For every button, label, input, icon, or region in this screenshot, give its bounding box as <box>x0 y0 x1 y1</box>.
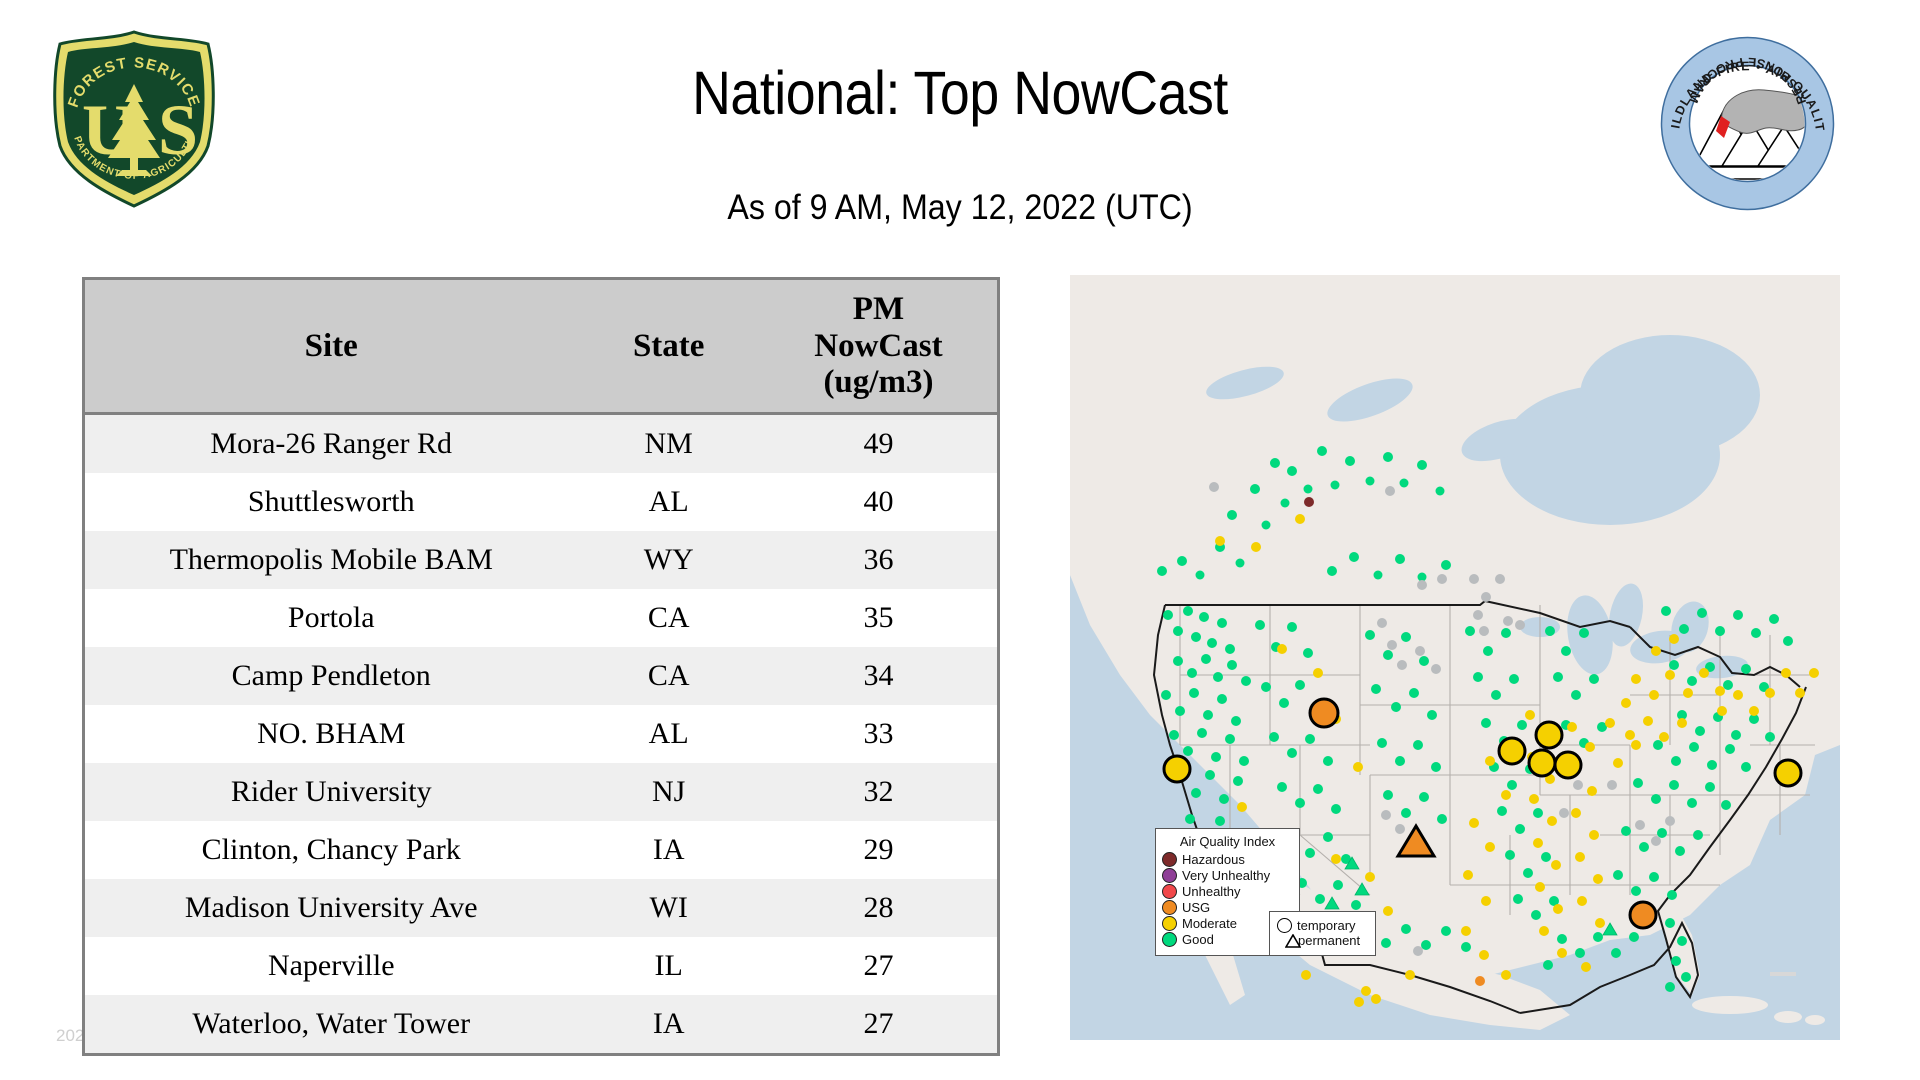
cell-state: AL <box>577 705 759 763</box>
highlight-monitor <box>1164 756 1190 782</box>
legend-label-permanent: permanent <box>1298 934 1360 948</box>
cell-pm-nowcast: 29 <box>760 821 997 879</box>
highlight-monitor <box>1529 750 1555 776</box>
aqi-legend-title: Air Quality Index <box>1162 834 1293 849</box>
cell-pm-nowcast: 40 <box>760 473 997 531</box>
table-header-row: Site State PM NowCast (ug/m3) <box>85 280 997 414</box>
column-header-pm-line2: NowCast <box>764 328 993 365</box>
legend-row-very-unhealthy: Very Unhealthy <box>1162 868 1293 883</box>
table-row: PortolaCA35 <box>85 589 997 647</box>
column-header-pm-line1: PM <box>764 291 993 328</box>
national-aqi-map[interactable]: Air Quality Index HazardousVery Unhealth… <box>1070 275 1840 1040</box>
page-title: National: Top NowCast <box>115 58 1805 128</box>
cell-pm-nowcast: 35 <box>760 589 997 647</box>
forest-service-logo: FOREST SERVICE U S DEPARTMENT OF AGRICUL… <box>48 28 220 210</box>
cell-pm-nowcast: 27 <box>760 995 997 1053</box>
column-header-state: State <box>577 280 759 414</box>
legend-row-unhealthy: Unhealthy <box>1162 884 1293 899</box>
aqi-swatch-icon <box>1162 932 1177 947</box>
aqi-swatch-icon <box>1162 900 1177 915</box>
cell-pm-nowcast: 28 <box>760 879 997 937</box>
highlight-monitor <box>1775 760 1801 786</box>
cell-state: WI <box>577 879 759 937</box>
scale-bar <box>1770 972 1796 976</box>
cell-site: Shuttlesworth <box>85 473 577 531</box>
table-row: Camp PendletonCA34 <box>85 647 997 705</box>
legend-label: Good <box>1182 933 1214 946</box>
cell-site: Waterloo, Water Tower <box>85 995 577 1053</box>
site-type-legend: temporary permanent <box>1269 911 1376 956</box>
table-row: Waterloo, Water TowerIA27 <box>85 995 997 1053</box>
legend-label: Hazardous <box>1182 853 1245 866</box>
table-row: ShuttlesworthAL40 <box>85 473 997 531</box>
cell-pm-nowcast: 34 <box>760 647 997 705</box>
table-row: Thermopolis Mobile BAMWY36 <box>85 531 997 589</box>
legend-label: Unhealthy <box>1182 885 1241 898</box>
cell-pm-nowcast: 32 <box>760 763 997 821</box>
cell-state: IA <box>577 821 759 879</box>
cell-site: Portola <box>85 589 577 647</box>
legend-row-permanent: permanent <box>1277 934 1369 948</box>
cell-state: AL <box>577 473 759 531</box>
highlight-monitor <box>1555 752 1581 778</box>
cell-site: NO. BHAM <box>85 705 577 763</box>
column-header-site: Site <box>85 280 577 414</box>
legend-label-temporary: temporary <box>1297 919 1356 933</box>
cell-state: NM <box>577 414 759 474</box>
wfaqrp-logo: WILDLAND FIRE • AIR QUALITY RESPONSE PRO… <box>1660 36 1835 211</box>
legend-row-hazardous: Hazardous <box>1162 852 1293 867</box>
cell-site: Camp Pendleton <box>85 647 577 705</box>
table-row: Madison University AveWI28 <box>85 879 997 937</box>
legend-label: Moderate <box>1182 917 1237 930</box>
highlight-monitor <box>1536 722 1562 748</box>
cell-state: CA <box>577 647 759 705</box>
legend-label: Very Unhealthy <box>1182 869 1270 882</box>
cell-pm-nowcast: 33 <box>760 705 997 763</box>
cell-state: CA <box>577 589 759 647</box>
aqi-swatch-icon <box>1162 868 1177 883</box>
cell-pm-nowcast: 36 <box>760 531 997 589</box>
aqi-swatch-icon <box>1162 884 1177 899</box>
cell-site: Clinton, Chancy Park <box>85 821 577 879</box>
table-row: Mora-26 Ranger RdNM49 <box>85 414 997 474</box>
cell-site: Naperville <box>85 937 577 995</box>
column-header-pm-nowcast: PM NowCast (ug/m3) <box>760 280 997 414</box>
permanent-site-icon <box>1277 934 1293 947</box>
table-row: NapervilleIL27 <box>85 937 997 995</box>
cell-pm-nowcast: 49 <box>760 414 997 474</box>
cell-state: NJ <box>577 763 759 821</box>
cell-site: Thermopolis Mobile BAM <box>85 531 577 589</box>
highlight-monitor <box>1310 699 1338 727</box>
cell-state: WY <box>577 531 759 589</box>
highlight-monitor <box>1630 902 1656 928</box>
cell-state: IL <box>577 937 759 995</box>
cell-state: IA <box>577 995 759 1053</box>
table-row: Rider UniversityNJ32 <box>85 763 997 821</box>
cell-site: Madison University Ave <box>85 879 577 937</box>
cell-pm-nowcast: 27 <box>760 937 997 995</box>
cell-site: Rider University <box>85 763 577 821</box>
hazardous-dot <box>1304 497 1314 507</box>
top-nowcast-table: Site State PM NowCast (ug/m3) Mora-26 Ra… <box>82 277 1000 1056</box>
legend-label: USG <box>1182 901 1210 914</box>
table-row: Clinton, Chancy ParkIA29 <box>85 821 997 879</box>
table-row: NO. BHAMAL33 <box>85 705 997 763</box>
aqi-swatch-icon <box>1162 916 1177 931</box>
page-subtitle: As of 9 AM, May 12, 2022 (UTC) <box>77 188 1843 228</box>
column-header-pm-line3: (ug/m3) <box>764 364 993 401</box>
aqi-swatch-icon <box>1162 852 1177 867</box>
legend-row-temporary: temporary <box>1277 918 1369 933</box>
temporary-site-icon <box>1277 918 1292 933</box>
cell-site: Mora-26 Ranger Rd <box>85 414 577 474</box>
highlight-monitor <box>1499 738 1525 764</box>
